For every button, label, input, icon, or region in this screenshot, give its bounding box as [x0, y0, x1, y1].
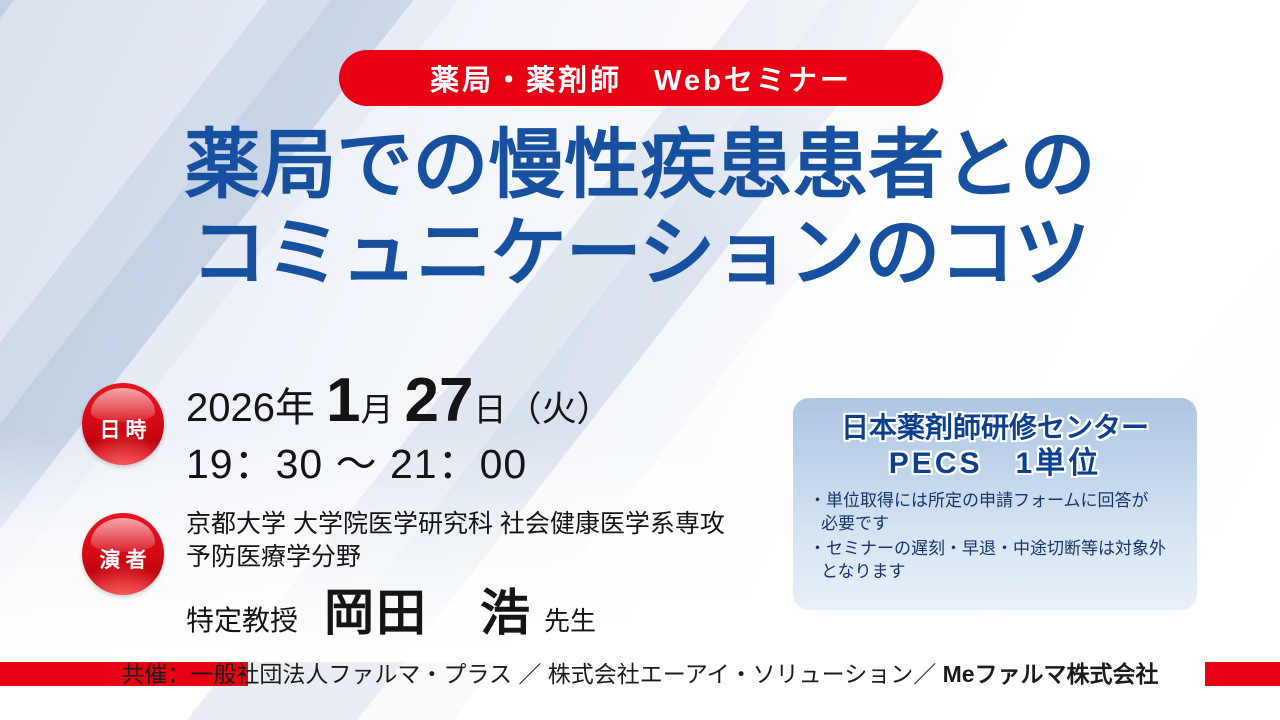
pecs-heading-line-2: PECS 1単位 — [809, 446, 1181, 481]
speaker-name: 岡田 浩 — [324, 588, 532, 638]
seminar-kicker-label: 薬局・薬剤師 Webセミナー — [430, 57, 852, 99]
footer-cosponsors: 共催：一般社団法人ファルマ・プラス ／ 株式会社エーアイ・ソリューション／ Me… — [0, 660, 1280, 688]
date-year: 2026年 — [186, 388, 315, 428]
pecs-note-text-2: 必要です — [809, 513, 1181, 535]
date-line: 2026年 1 月 27 日 （火） — [186, 370, 611, 432]
page-title-line-1: 薬局での慢性疾患患者との — [0, 126, 1280, 206]
pecs-note-list: ・単位取得には所定の申請フォームに回答が 必要です ・セミナーの遅刻・早退・中途… — [809, 490, 1181, 583]
pecs-note-text-1: 単位取得には所定の申請フォームに回答が — [826, 491, 1149, 510]
speaker-name-row: 特定教授 岡田 浩 先生 — [186, 588, 725, 638]
speaker-affiliation-line-1: 京都大学 大学院医学研究科 社会健康医学系専攻 — [186, 508, 725, 541]
pecs-note-bullet: ・ — [809, 539, 826, 558]
pecs-heading: 日本薬剤師研修センター PECS 1単位 — [809, 411, 1181, 481]
speaker-rank: 特定教授 — [186, 607, 298, 635]
speaker-affiliation-line-2: 予防医療学分野 — [186, 541, 725, 574]
speaker-honorific: 先生 — [544, 608, 596, 634]
date-time-range: 19：30 ～ 21：00 — [186, 444, 611, 485]
pecs-note-text-2: となります — [809, 561, 1181, 583]
footer-cosponsors-text: 共催：一般社団法人ファルマ・プラス ／ 株式会社エーアイ・ソリューション／ — [121, 661, 942, 687]
speaker-badge: 演者 — [82, 513, 164, 595]
footer-cosponsor-primary: Meファルマ株式会社 — [943, 661, 1159, 687]
pecs-note-text-1: セミナーの遅刻・早退・中途切断等は対象外 — [826, 539, 1166, 558]
pecs-heading-line-1: 日本薬剤師研修センター — [809, 411, 1181, 444]
date-badge-label: 日時 — [95, 414, 152, 444]
pecs-note-item: ・セミナーの遅刻・早退・中途切断等は対象外 となります — [809, 538, 1181, 583]
pecs-note-bullet: ・ — [809, 491, 826, 510]
seminar-kicker-pill: 薬局・薬剤師 Webセミナー — [339, 50, 943, 106]
pecs-credit-box: 日本薬剤師研修センター PECS 1単位 ・単位取得には所定の申請フォームに回答… — [793, 398, 1197, 610]
date-block: 2026年 1 月 27 日 （火） 19：30 ～ 21：00 — [186, 370, 611, 485]
page-title-line-2: コミュニケーションのコツ — [0, 214, 1280, 294]
date-weekday: （火） — [506, 392, 611, 427]
date-day-number: 27 — [404, 370, 473, 432]
date-month-unit: 月 — [360, 393, 393, 426]
date-day-unit: 日 — [473, 393, 506, 426]
seminar-banner: 薬局・薬剤師 Webセミナー 薬局での慢性疾患患者との コミュニケーションのコツ… — [0, 0, 1280, 720]
pecs-note-item: ・単位取得には所定の申請フォームに回答が 必要です — [809, 490, 1181, 535]
speaker-block: 京都大学 大学院医学研究科 社会健康医学系専攻 予防医療学分野 特定教授 岡田 … — [186, 508, 725, 638]
page-title: 薬局での慢性疾患患者との コミュニケーションのコツ — [0, 126, 1280, 294]
speaker-badge-label: 演者 — [95, 544, 152, 574]
date-badge: 日時 — [82, 383, 164, 465]
date-month-number: 1 — [326, 370, 360, 432]
